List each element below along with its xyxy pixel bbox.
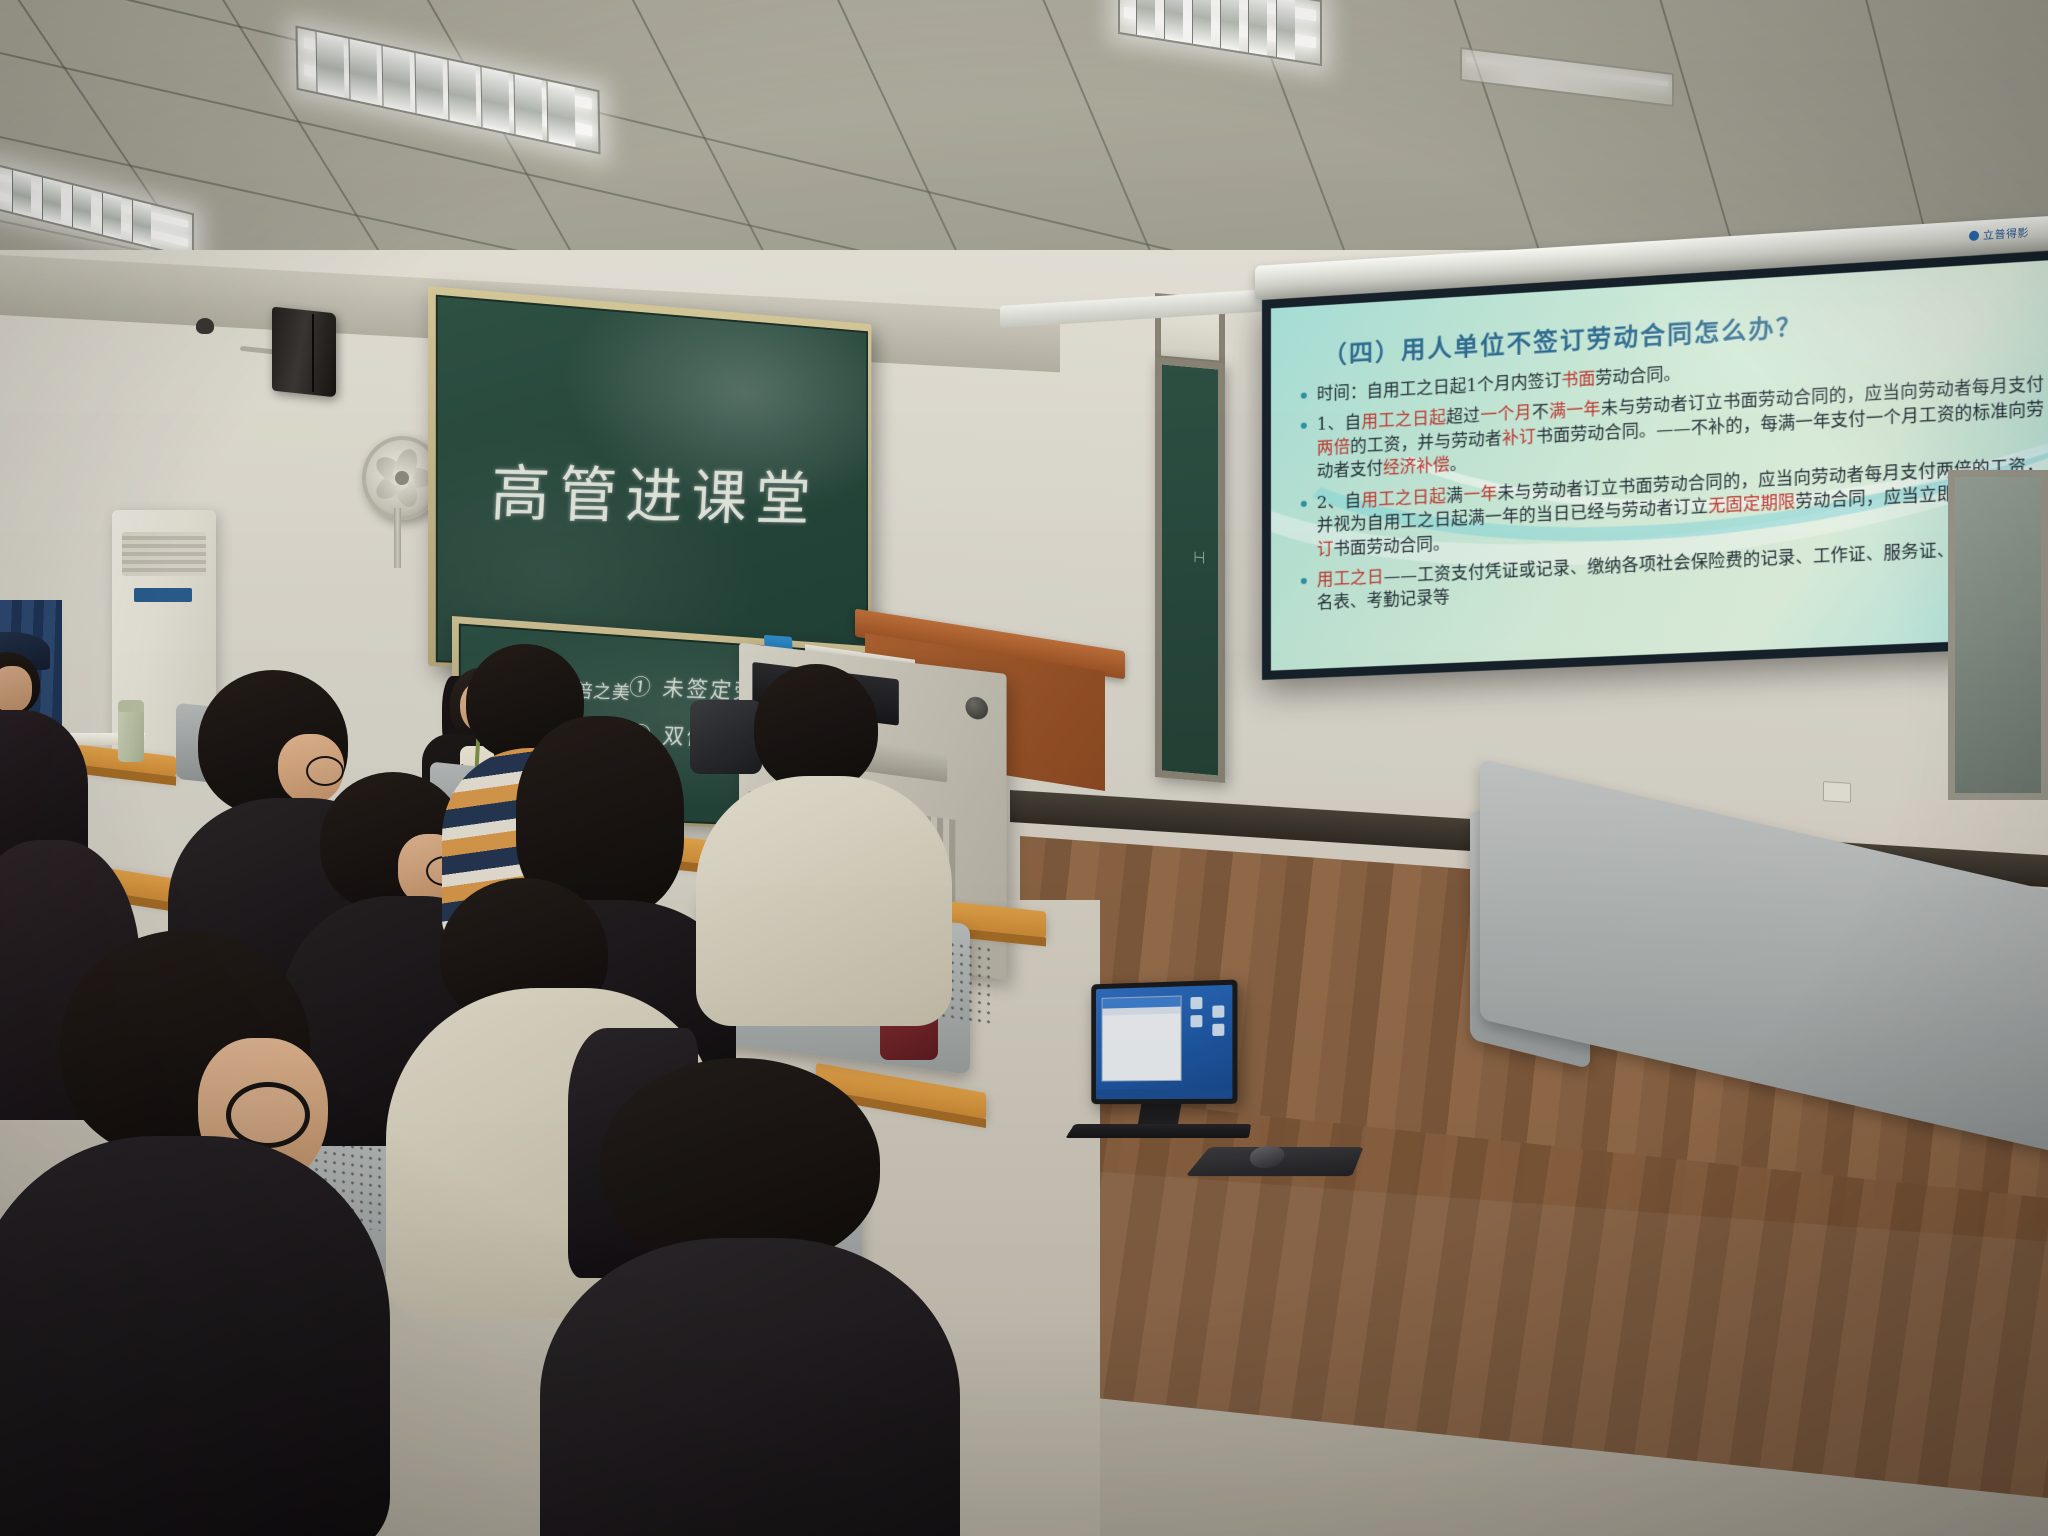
slide-highlight-text: 用工之日起 bbox=[1361, 486, 1446, 509]
slide-text: 满 bbox=[1446, 485, 1463, 505]
slide-text: 不 bbox=[1532, 402, 1549, 422]
operator-light-jacket bbox=[704, 664, 944, 994]
chalkboard-side-mark: 工 bbox=[1189, 550, 1208, 565]
slide-highlight-text: 一个月 bbox=[1480, 403, 1531, 425]
screen-brand-label: 立普得影 bbox=[1983, 224, 2029, 243]
ceiling-sensor-icon bbox=[196, 318, 214, 334]
monitor-screen bbox=[1096, 985, 1232, 1099]
projection-screen: （四）用人单位不签订劳动合同怎么办？ 时间：自用工之日起1个月内签订书面劳动合同… bbox=[1262, 249, 2048, 680]
slide-highlight-text: 满一年 bbox=[1549, 399, 1601, 421]
slide-highlight-text: 补订 bbox=[1502, 427, 1536, 448]
chalkboard-headline: 高管进课堂 bbox=[489, 443, 821, 536]
desktop-window bbox=[1101, 995, 1181, 1081]
right-wall-window bbox=[1948, 470, 2048, 800]
slide-highlight-text: 用工之日 bbox=[1317, 567, 1384, 589]
slide-text: 劳动合同。 bbox=[1595, 364, 1680, 388]
slide-text: 超过 bbox=[1446, 406, 1480, 427]
classroom-photo-scene: 高管进课堂 8-1=7 加倍之美 1个月 ① 未签定劳动合同情形 ② 双倍工资的… bbox=[0, 0, 2048, 1536]
wall-outlet bbox=[1823, 781, 1851, 803]
keyboard[interactable] bbox=[1066, 1124, 1252, 1138]
thermos-bottle bbox=[118, 700, 144, 762]
wall-speaker bbox=[272, 307, 336, 398]
slide-highlight-text: 书面 bbox=[1561, 369, 1595, 390]
slide-text: 的工资，并与劳动者 bbox=[1350, 429, 1502, 456]
slide-text: 书面劳动合同。 bbox=[1333, 533, 1449, 558]
brand-dot-icon bbox=[1969, 230, 1979, 241]
slide-highlight-text: 经济补偿 bbox=[1383, 455, 1450, 478]
slide-highlight-text: 一年 bbox=[1463, 483, 1497, 504]
slide-highlight-text: 用工之日起 bbox=[1361, 408, 1446, 432]
desktop-monitor bbox=[1091, 980, 1237, 1105]
slide-text: 时间：自用工之日起1个月内签订 bbox=[1317, 371, 1562, 404]
student-foreground-glasses bbox=[30, 930, 360, 1530]
light-jacket bbox=[696, 776, 952, 1026]
slide-text: 2、自 bbox=[1317, 491, 1362, 512]
slide-text: 。 bbox=[1450, 454, 1467, 474]
av-knob[interactable] bbox=[965, 696, 988, 721]
ac-grille bbox=[122, 532, 206, 576]
slide-highlight-text: 两倍 bbox=[1317, 437, 1350, 458]
student-back-row-right bbox=[560, 1058, 940, 1536]
ac-display bbox=[134, 588, 192, 602]
screen-brand-logo: 立普得影 bbox=[1969, 224, 2029, 244]
slide-bullet-list: 时间：自用工之日起1个月内签订书面劳动合同。1、自用工之日起超过一个月不满一年未… bbox=[1297, 341, 2044, 616]
presentation-slide: （四）用人单位不签订劳动合同怎么办？ 时间：自用工之日起1个月内签订书面劳动合同… bbox=[1271, 259, 2048, 671]
slide-text: 1、自 bbox=[1317, 413, 1362, 435]
chalkboard-side-panel: 工 bbox=[1155, 357, 1225, 783]
desktop-taskbar bbox=[1096, 1088, 1232, 1099]
fan-pole bbox=[394, 508, 401, 568]
slide-highlight-text: 无固定期限 bbox=[1708, 492, 1795, 516]
